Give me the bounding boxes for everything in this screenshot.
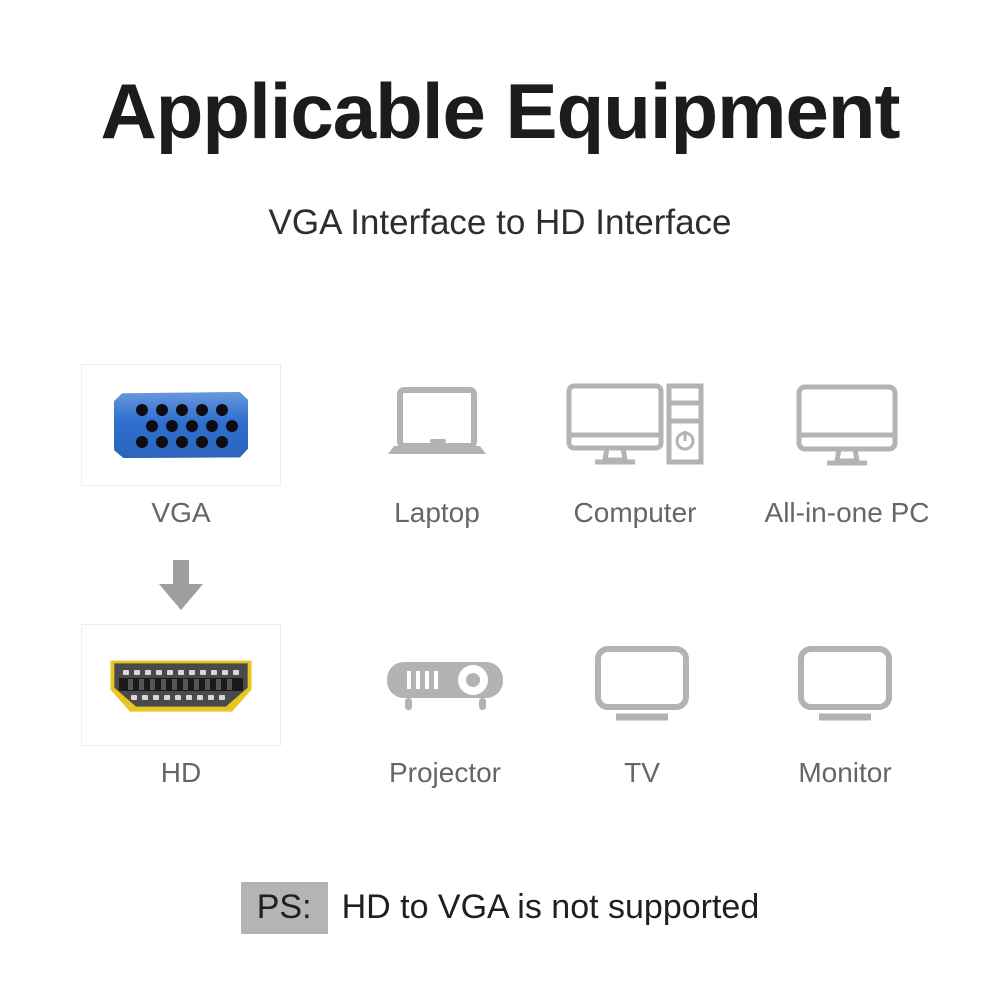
hdmi-pin (131, 695, 137, 700)
vga-pin (156, 404, 168, 416)
ps-note-text: HD to VGA is not supported (342, 888, 760, 926)
projector-cell: Projector (340, 620, 550, 789)
vga-connector-art (76, 360, 286, 490)
hdmi-pin (211, 670, 217, 675)
monitor-cell: Monitor (740, 620, 950, 789)
computer-art (530, 360, 740, 490)
hdmi-pin (153, 695, 159, 700)
hdmi-pin (156, 670, 162, 675)
hdmi-product-box (81, 624, 281, 746)
hdmi-pin (134, 670, 140, 675)
hdmi-tooth (161, 679, 166, 690)
ps-label: PS: (241, 882, 328, 934)
vga-pin (186, 420, 198, 432)
laptop-label: Laptop (332, 498, 542, 529)
desktop-computer-icon (565, 381, 705, 469)
vga-pin (176, 436, 188, 448)
laptop-cell: Laptop (332, 360, 542, 529)
hdmi-connector-art (76, 620, 286, 750)
hdmi-pin (167, 670, 173, 675)
vga-pin (136, 436, 148, 448)
vga-label: VGA (76, 498, 286, 529)
ps-note: PS:HD to VGA is not supported (0, 890, 1000, 924)
hdmi-pin (208, 695, 214, 700)
hdmi-pin (164, 695, 170, 700)
hdmi-tooth (194, 679, 199, 690)
monitor-label: Monitor (740, 758, 950, 789)
all-in-one-pc-cell: All-in-one PC (742, 360, 952, 529)
projector-icon (385, 654, 505, 716)
computer-label: Computer (530, 498, 740, 529)
hdmi-pin (142, 695, 148, 700)
hdmi-tooth (216, 679, 221, 690)
vga-pin (196, 404, 208, 416)
hdmi-tooth (150, 679, 155, 690)
tv-art (537, 620, 747, 750)
tv-icon (594, 645, 690, 725)
laptop-icon (382, 384, 492, 466)
projector-label: Projector (340, 758, 550, 789)
vga-pin (156, 436, 168, 448)
hdmi-tooth (139, 679, 144, 690)
hdmi-pin (233, 670, 239, 675)
hdmi-pin (200, 670, 206, 675)
hdmi-pin (189, 670, 195, 675)
hdmi-pin (145, 670, 151, 675)
monitor-art (740, 620, 950, 750)
hd-label: HD (76, 758, 286, 789)
vga-connector-icon (114, 392, 248, 458)
hdmi-tooth (128, 679, 133, 690)
vga-pin (216, 436, 228, 448)
hdmi-connector-icon (106, 656, 256, 714)
target-row: HD Projector (0, 620, 1000, 870)
hdmi-pin (186, 695, 192, 700)
hdmi-pin (175, 695, 181, 700)
hdmi-connector-cell: HD (76, 620, 286, 789)
projector-art (340, 620, 550, 750)
hdmi-tooth (205, 679, 210, 690)
tv-cell: TV (537, 620, 747, 789)
vga-pin (136, 404, 148, 416)
vga-connector-cell: VGA (76, 360, 286, 529)
vga-pin (146, 420, 158, 432)
hdmi-pin (222, 670, 228, 675)
vga-pin (176, 404, 188, 416)
hdmi-tooth (172, 679, 177, 690)
vga-pin (216, 404, 228, 416)
infographic-page: Applicable Equipment VGA Interface to HD… (0, 0, 1000, 1000)
hdmi-pin (123, 670, 129, 675)
computer-cell: Computer (530, 360, 740, 529)
all-in-one-pc-art (742, 360, 952, 490)
equipment-grid: VGA Laptop (0, 360, 1000, 870)
all-in-one-pc-label: All-in-one PC (742, 498, 952, 529)
monitor-icon (797, 645, 893, 725)
hdmi-tooth (227, 679, 232, 690)
vga-pin-group (114, 392, 248, 458)
tv-label: TV (537, 758, 747, 789)
vga-pin (206, 420, 218, 432)
arrow-container (76, 558, 286, 614)
all-in-one-pc-icon (795, 382, 899, 468)
hdmi-slot (119, 678, 243, 691)
page-title: Applicable Equipment (0, 72, 1000, 150)
vga-pin (166, 420, 178, 432)
vga-pin (226, 420, 238, 432)
hdmi-pin (178, 670, 184, 675)
source-row: VGA Laptop (0, 360, 1000, 610)
hdmi-pin (197, 695, 203, 700)
hdmi-tooth (183, 679, 188, 690)
vga-pin (196, 436, 208, 448)
arrow-down-icon (153, 558, 209, 614)
laptop-art (332, 360, 542, 490)
hdmi-pin (219, 695, 225, 700)
page-subtitle: VGA Interface to HD Interface (0, 205, 1000, 240)
vga-product-box (81, 364, 281, 486)
